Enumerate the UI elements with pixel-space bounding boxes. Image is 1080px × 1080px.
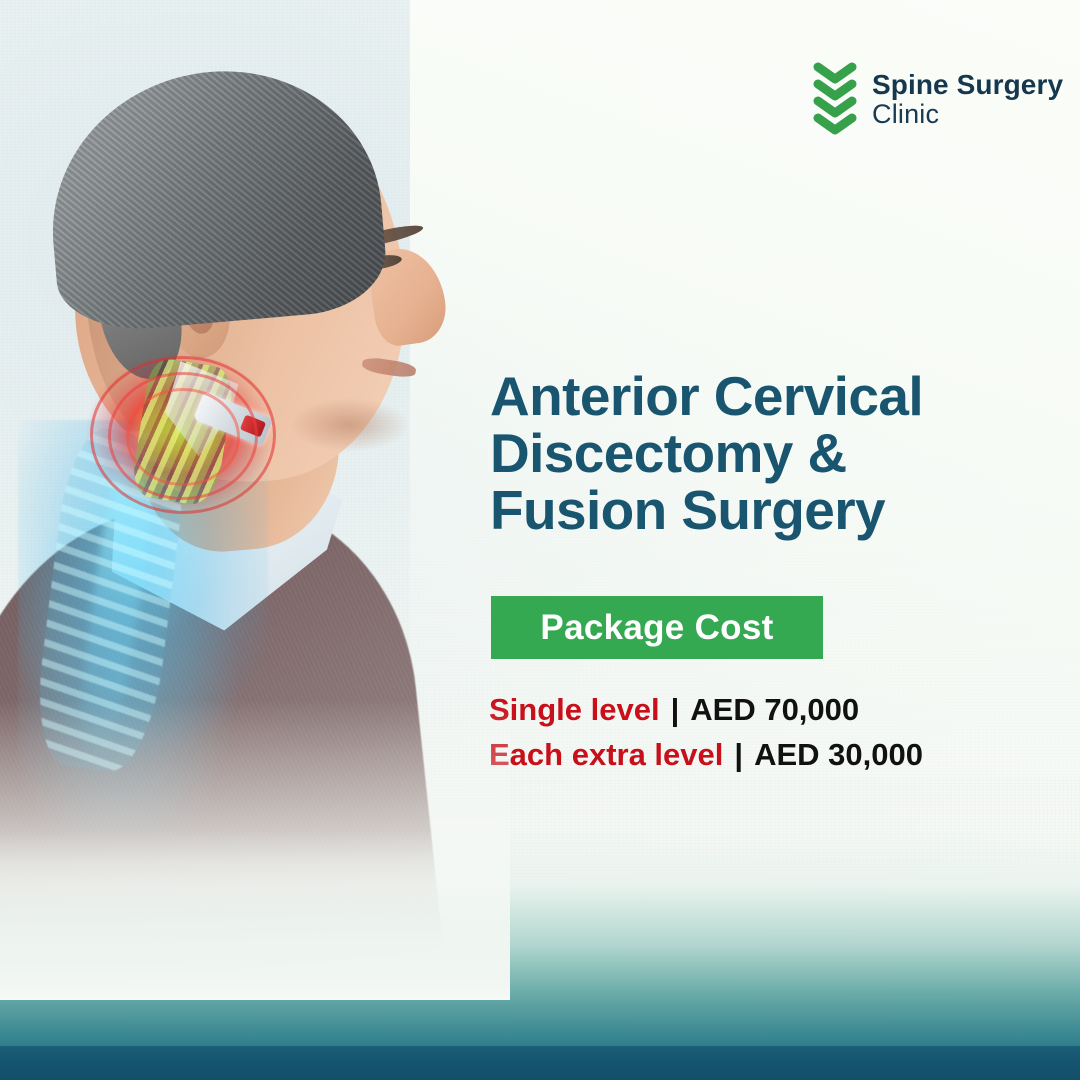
hair-texture — [40, 58, 391, 336]
brand-logo[interactable]: Spine Surgery Clinic — [812, 62, 1063, 136]
price-label: Each extra level — [489, 737, 723, 773]
promotional-poster: Spine Surgery Clinic Anterior Cervical D… — [0, 0, 1080, 1080]
patient-photo — [0, 0, 510, 1000]
pain-ring-inner — [126, 388, 240, 486]
price-separator: | — [734, 737, 743, 773]
brand-name-line2: Clinic — [872, 100, 1063, 129]
chin-shadow — [290, 398, 410, 452]
price-row: Single level | AED 70,000 — [489, 692, 923, 728]
price-value: AED 70,000 — [690, 692, 859, 728]
brand-name-line1: Spine Surgery — [872, 70, 1063, 100]
price-label: Single level — [489, 692, 660, 728]
page-title: Anterior Cervical Discectomy & Fusion Su… — [490, 368, 1030, 540]
photo-bottom-fade — [0, 700, 510, 1000]
headline-line-1: Anterior Cervical — [490, 368, 1030, 425]
headline-line-2: Discectomy & — [490, 425, 1030, 482]
spine-chevron-icon — [812, 62, 858, 136]
price-row: Each extra level | AED 30,000 — [489, 737, 923, 773]
pricing-list: Single level | AED 70,000 Each extra lev… — [489, 692, 923, 782]
brand-name: Spine Surgery Clinic — [872, 70, 1063, 128]
headline-line-3: Fusion Surgery — [490, 482, 1030, 539]
package-cost-banner: Package Cost — [491, 596, 823, 659]
price-separator: | — [671, 692, 680, 728]
price-value: AED 30,000 — [754, 737, 923, 773]
package-cost-label: Package Cost — [540, 608, 773, 648]
hair — [40, 58, 391, 336]
bottom-solid-strip — [0, 1046, 1080, 1080]
